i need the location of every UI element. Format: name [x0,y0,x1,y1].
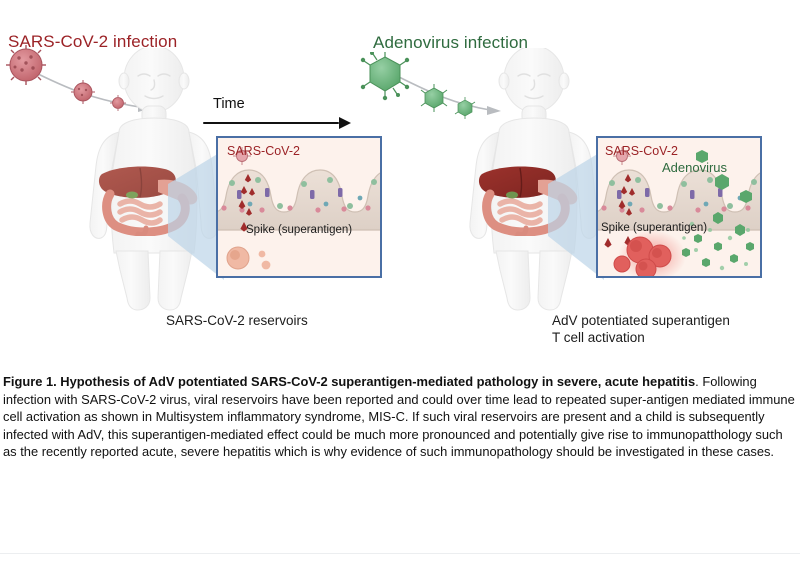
adenovirus-small [455,97,475,119]
footer-divider [0,553,800,554]
caption-right-panel: AdV potentiated superantigen T cell acti… [552,312,730,346]
adenovirus-medium [421,84,447,112]
figure-caption-bold-lead: Figure 1. Hypothesis of AdV potentiated … [3,374,695,389]
adenovirus-large [361,52,409,100]
label-adenovirus-infection: Adenovirus infection [373,33,528,53]
virion-small [110,95,126,111]
virion-large [6,45,46,85]
inset-right-title: SARS-CoV-2 [605,144,678,158]
small-intestine [120,201,160,223]
inset-right-graphic [598,138,762,278]
inset-panel-right: SARS-CoV-2 Adenovirus Spike (superantige… [596,136,762,278]
small-intestine [500,201,540,223]
inset-left-title: SARS-CoV-2 [227,144,300,158]
inset-right-title-adenovirus: Adenovirus [662,160,727,175]
sars-cov-2-virus-trajectory [0,45,200,120]
virion-medium [71,80,95,104]
inset-right-sublabel: Spike (superantigen) [601,222,707,234]
time-axis-arrow [203,117,351,129]
figure-root: SARS-CoV-2 infection [0,0,800,564]
time-axis-label: Time [213,96,245,112]
caption-left-panel: SARS-CoV-2 reservoirs [166,312,308,329]
inset-left-sublabel: Spike (superantigen) [246,224,352,236]
inset-panel-left: SARS-CoV-2 Spike (superantigen) [216,136,382,278]
adenovirus-trajectory [355,52,545,127]
figure-caption: Figure 1. Hypothesis of AdV potentiated … [3,373,795,461]
inset-left-graphic [218,138,382,278]
